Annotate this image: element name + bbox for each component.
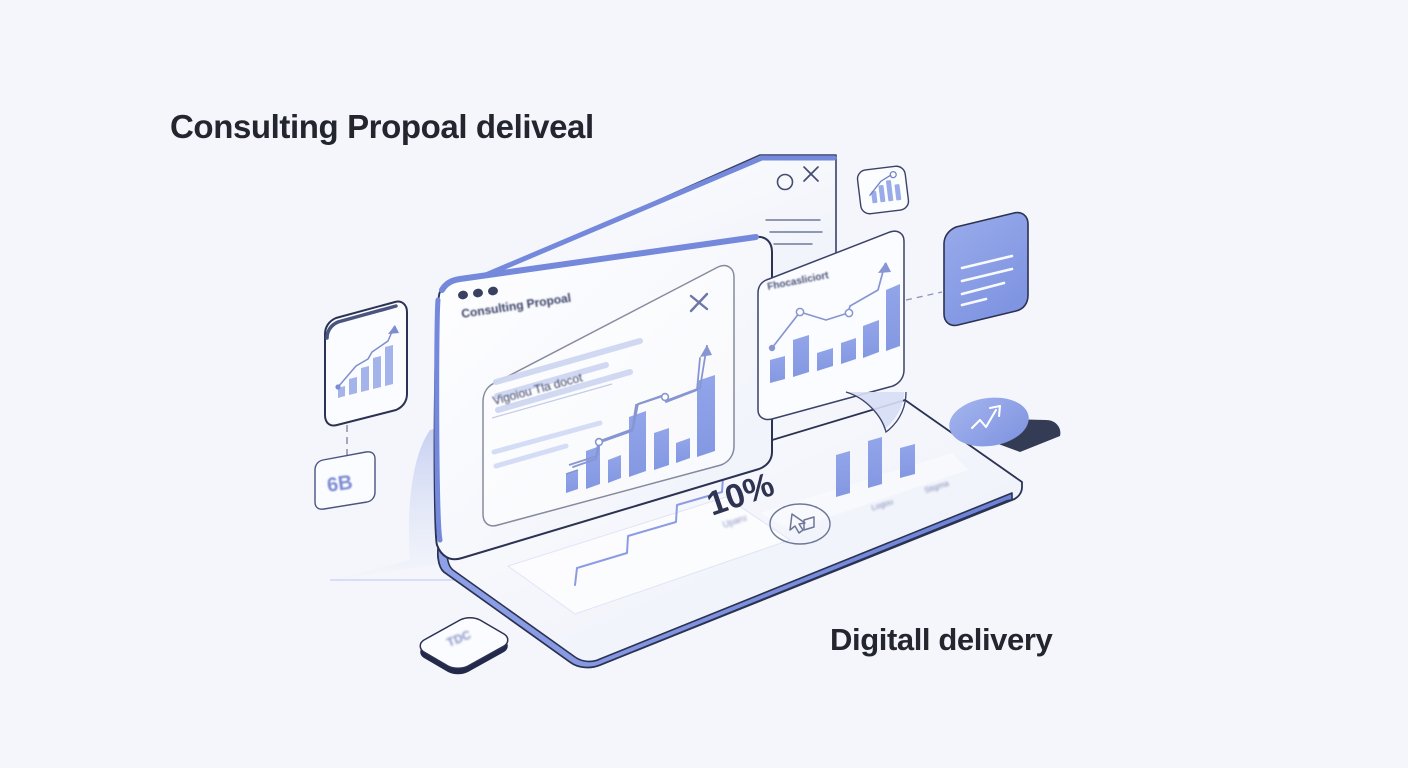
illustration-canvas: Logou Stigma 10% Uparu <box>0 0 1408 768</box>
secondary-title: Digitall delivery <box>830 622 1052 658</box>
value-badge[interactable]: 6B <box>315 452 375 509</box>
bottom-tile[interactable]: TDC <box>420 618 508 675</box>
chart-icon-card[interactable] <box>856 165 909 215</box>
mini-chart-card[interactable] <box>325 302 407 426</box>
page-title: Consulting Propoal deliveal <box>170 108 594 146</box>
blue-note-card[interactable] <box>944 213 1028 326</box>
connector-forecast-to-note <box>906 292 942 300</box>
value-badge-text: 6B <box>326 472 354 497</box>
